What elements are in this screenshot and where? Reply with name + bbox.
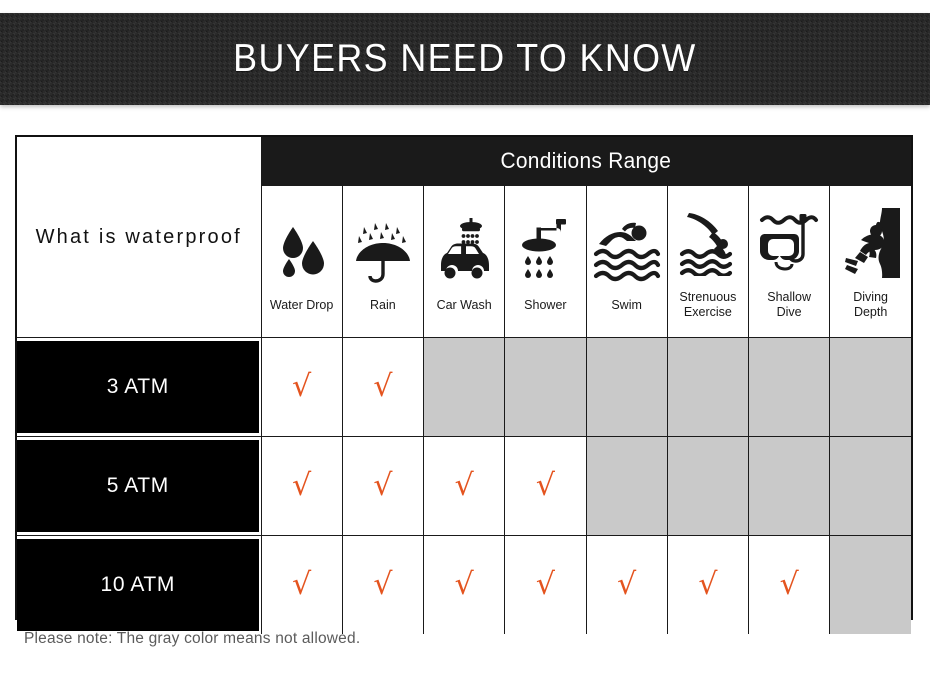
cell-3atm-strenuous-exercise <box>667 338 748 437</box>
diver-jump-icon <box>670 204 746 282</box>
umbrella-rain-icon <box>345 212 421 290</box>
check-icon: √ <box>373 570 392 600</box>
cell-10atm-shower: √ <box>505 536 586 635</box>
column-header-strenuous-exercise: Strenuous Exercise <box>667 186 748 338</box>
water-drop-icon <box>264 212 340 290</box>
cell-10atm-swim: √ <box>586 536 667 635</box>
cell-10atm-car-wash: √ <box>424 536 505 635</box>
cell-5atm-rain: √ <box>342 437 423 536</box>
corner-header-label: What is waterproof <box>17 223 261 252</box>
cell-3atm-rain: √ <box>342 338 423 437</box>
row-header-cell: 5 ATM <box>17 437 261 536</box>
row-label: 10 ATM <box>17 539 259 631</box>
snorkel-mask-icon <box>751 204 827 282</box>
table-row: 3 ATM √ √ <box>17 338 911 437</box>
page-header-banner: BUYERS NEED TO KNOW <box>0 13 930 105</box>
waterproof-rating-table: What is waterproof Conditions Range <box>15 135 913 620</box>
check-icon: √ <box>780 570 799 600</box>
column-header-shallow-dive: Shallow Dive <box>749 186 830 338</box>
column-header-swim: Swim <box>586 186 667 338</box>
check-icon: √ <box>373 372 392 402</box>
row-label: 3 ATM <box>17 341 259 433</box>
column-header-rain: Rain <box>342 186 423 338</box>
column-header-diving-depth: Diving Depth <box>830 186 911 338</box>
conditions-range-header: Conditions Range <box>261 137 911 186</box>
cell-3atm-water-drop: √ <box>261 338 342 437</box>
check-icon: √ <box>536 570 555 600</box>
column-header-shower: Shower <box>505 186 586 338</box>
cell-10atm-diving-depth <box>830 536 911 635</box>
footnote-text: Please note: The gray color means not al… <box>24 630 360 648</box>
cell-3atm-swim <box>586 338 667 437</box>
cell-5atm-diving-depth <box>830 437 911 536</box>
check-icon: √ <box>617 570 636 600</box>
cell-5atm-water-drop: √ <box>261 437 342 536</box>
cell-5atm-swim <box>586 437 667 536</box>
shower-head-icon <box>507 212 583 290</box>
cell-5atm-shallow-dive <box>749 437 830 536</box>
cell-10atm-shallow-dive: √ <box>749 536 830 635</box>
check-icon: √ <box>455 570 474 600</box>
cell-10atm-rain: √ <box>342 536 423 635</box>
cell-5atm-shower: √ <box>505 437 586 536</box>
cell-5atm-car-wash: √ <box>424 437 505 536</box>
cell-3atm-shower <box>505 338 586 437</box>
table-row: 10 ATM √ √ √ √ √ √ √ <box>17 536 911 635</box>
row-label: 5 ATM <box>17 440 259 532</box>
column-label: Shower <box>507 298 583 313</box>
swimmer-icon <box>589 212 665 290</box>
check-icon: √ <box>373 471 392 501</box>
column-header-water-drop: Water Drop <box>261 186 342 338</box>
cell-10atm-water-drop: √ <box>261 536 342 635</box>
column-label: Water Drop <box>264 298 340 313</box>
column-label: Car Wash <box>426 298 502 313</box>
scuba-diver-icon <box>832 204 909 282</box>
column-header-car-wash: Car Wash <box>424 186 505 338</box>
column-label: Swim <box>589 298 665 313</box>
row-header-cell: 3 ATM <box>17 338 261 437</box>
cell-3atm-car-wash <box>424 338 505 437</box>
car-wash-icon <box>426 212 502 290</box>
column-label: Shallow Dive <box>751 290 827 320</box>
row-header-cell: 10 ATM <box>17 536 261 635</box>
check-icon: √ <box>292 570 311 600</box>
column-label: Strenuous Exercise <box>670 290 746 320</box>
conditions-range-label: Conditions Range <box>501 148 672 174</box>
column-label: Rain <box>345 298 421 313</box>
cell-3atm-diving-depth <box>830 338 911 437</box>
check-icon: √ <box>292 372 311 402</box>
check-icon: √ <box>292 471 311 501</box>
page-title: BUYERS NEED TO KNOW <box>233 37 697 81</box>
table-row: 5 ATM √ √ √ √ <box>17 437 911 536</box>
corner-header-cell: What is waterproof <box>17 137 261 338</box>
check-icon: √ <box>698 570 717 600</box>
cell-3atm-shallow-dive <box>749 338 830 437</box>
check-icon: √ <box>536 471 555 501</box>
cell-5atm-strenuous-exercise <box>667 437 748 536</box>
check-icon: √ <box>455 471 474 501</box>
column-label: Diving Depth <box>832 290 909 320</box>
table-header-band-row: What is waterproof Conditions Range <box>17 137 911 186</box>
cell-10atm-strenuous-exercise: √ <box>667 536 748 635</box>
